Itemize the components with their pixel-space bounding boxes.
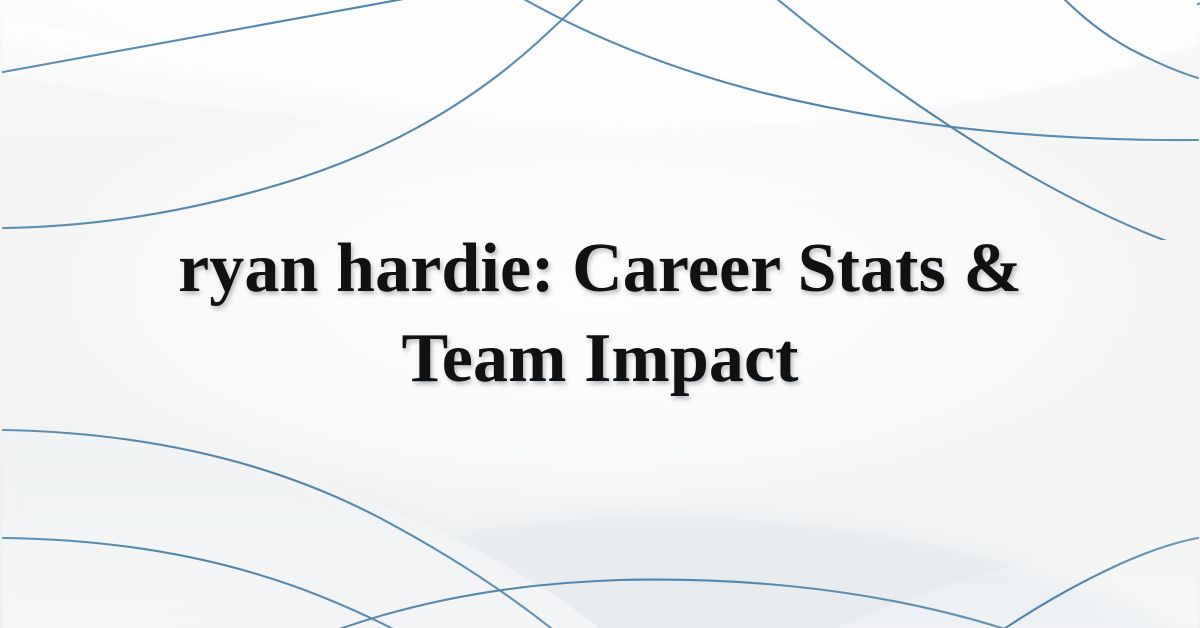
title-container: ryan hardie: Career Stats & Team Impact bbox=[0, 0, 1200, 628]
page-title: ryan hardie: Career Stats & Team Impact bbox=[150, 224, 1050, 403]
title-card: ryan hardie: Career Stats & Team Impact bbox=[0, 0, 1200, 628]
